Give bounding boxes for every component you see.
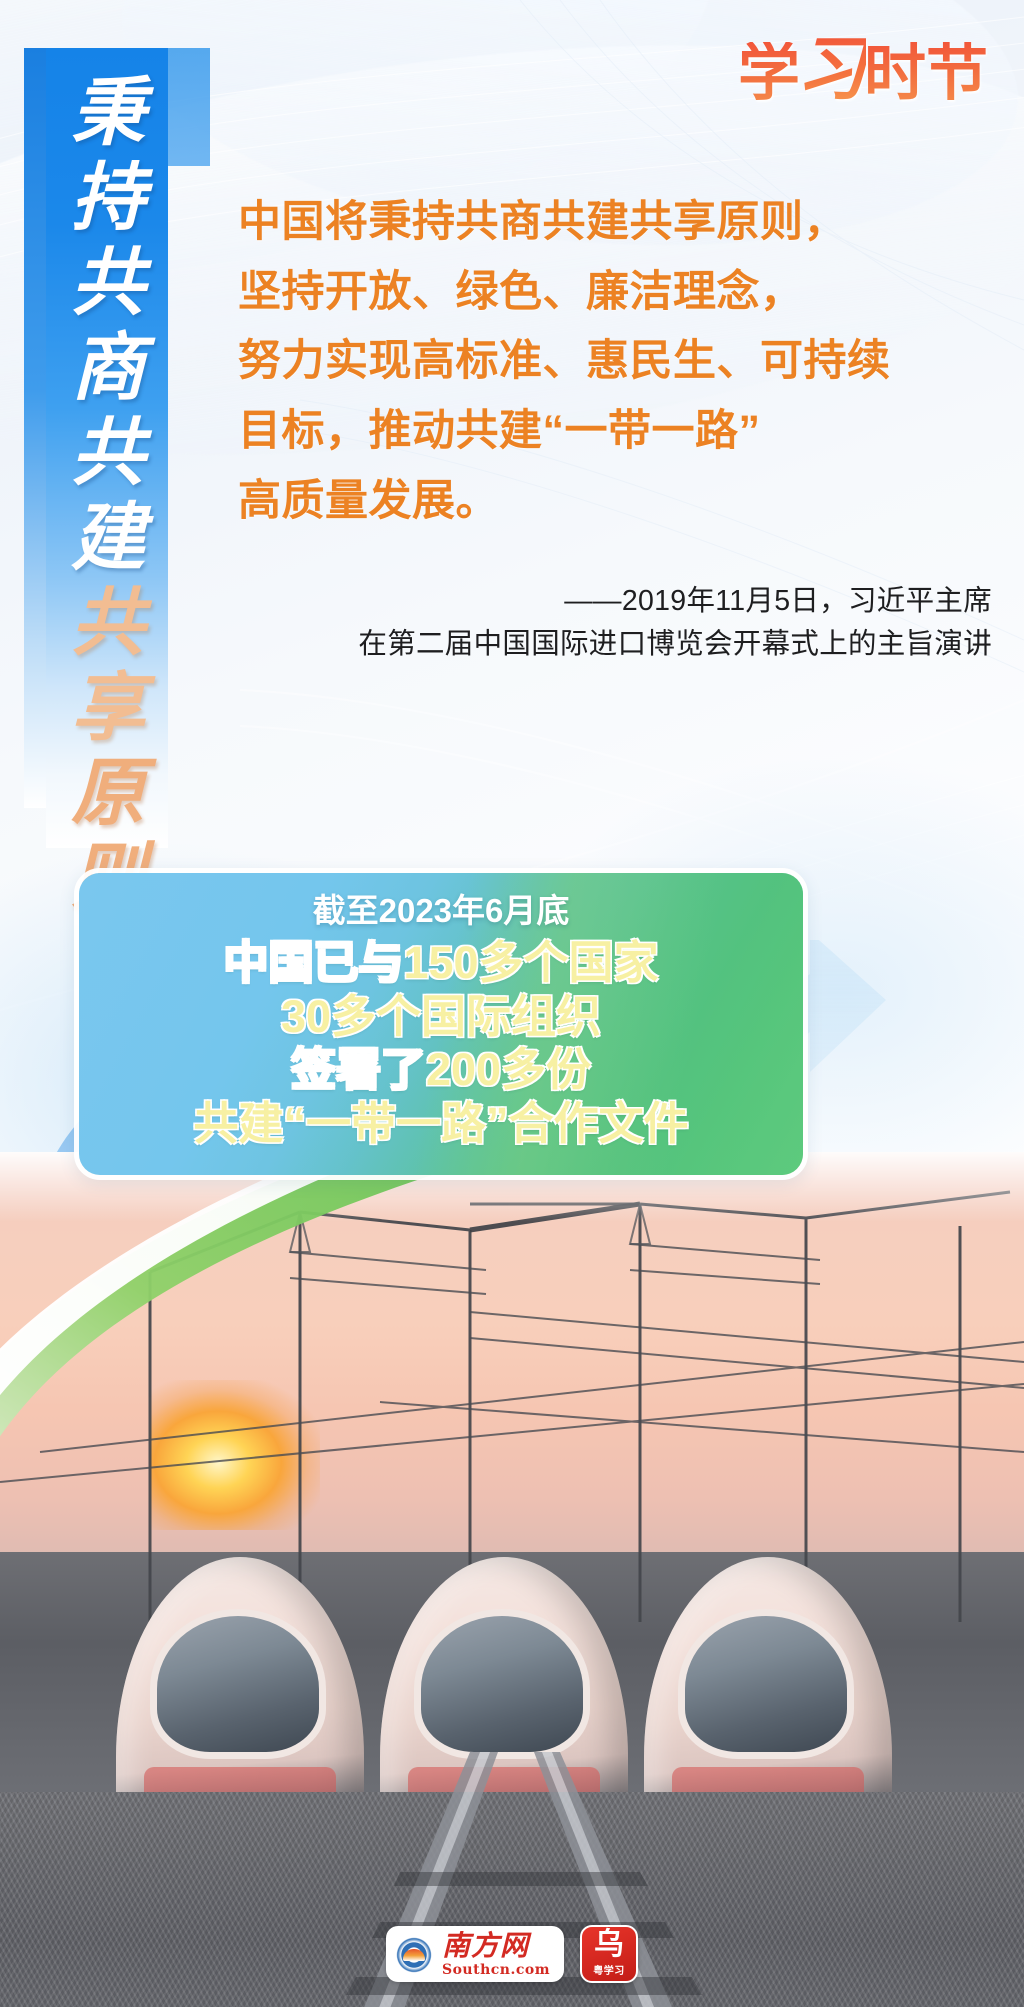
brand-char-3: 节 [926, 42, 988, 104]
brand-char-1: 习 [796, 34, 866, 104]
attribution-block: ——2019年11月5日，习近平主席 在第二届中国国际进口博览会开幕式上的主旨演… [180, 580, 992, 666]
quote-line-2: 努力实现高标准、惠民生、可持续 [238, 327, 998, 397]
train-windshield [678, 1609, 854, 1759]
quote-line-3: 目标，推动共建“一带一路” [238, 397, 998, 467]
banner-top-tab [168, 48, 210, 166]
stat-line-4-part-0: 共建“一带一路”合作文件 [193, 1098, 688, 1149]
train-photo [0, 1152, 1024, 2007]
stat-line-3: 签署了200多份 [79, 1043, 803, 1097]
stat-line-3-part-1: 200多份 [426, 1044, 591, 1095]
footer-logos: 南方网 Southcn.com 乌 粤学习 [0, 1925, 1024, 1983]
stat-line-1-part-1: 150多个国家 [403, 937, 658, 988]
quote-line-0: 中国将秉持共商共建共享原则， [238, 188, 998, 258]
stat-heading: 截至2023年6月底 [79, 891, 803, 930]
attribution-line-0: ——2019年11月5日，习近平主席 [180, 580, 992, 623]
stat-line-2: 30多个国际组织 [79, 990, 803, 1044]
brand-logo[interactable]: 学 习 时 节 [738, 34, 988, 104]
quote-line-1: 坚持开放、绿色、廉洁理念， [238, 258, 998, 328]
yuexuexi-glyph-icon: 乌 [594, 1930, 624, 1960]
brand-char-0: 学 [738, 42, 800, 104]
southcn-name-en: Southcn.com [442, 1963, 550, 1977]
yuexuexi-logo[interactable]: 乌 粤学习 [580, 1925, 638, 1983]
poster-root: 秉 持 共 商 共 建 共 享 原 则 学 习 时 节 中国将秉持共商共建共享原… [0, 0, 1024, 2007]
attribution-line-1: 在第二届中国国际进口博览会开幕式上的主旨演讲 [180, 623, 992, 666]
quote-block: 中国将秉持共商共建共享原则， 坚持开放、绿色、廉洁理念， 努力实现高标准、惠民生… [238, 188, 998, 536]
southcn-logo[interactable]: 南方网 Southcn.com [386, 1926, 564, 1982]
statistics-text: 截至2023年6月底 中国已与150多个国家 30多个国际组织 签署了200多份… [79, 873, 803, 1150]
train-windshield [150, 1609, 326, 1759]
stat-line-3-part-0: 签署了 [291, 1044, 426, 1095]
stat-line-2-part-0: 30多个国际组织 [281, 991, 601, 1042]
yuexuexi-label: 粤学习 [593, 1962, 625, 1977]
catenary-structure [0, 1152, 1024, 1622]
quote-line-4: 高质量发展。 [238, 467, 998, 537]
train-windshield [414, 1609, 590, 1759]
brand-char-2: 时 [864, 42, 926, 104]
stat-line-1-part-0: 中国已与 [223, 937, 403, 988]
southcn-name-cn: 南方网 [442, 1932, 550, 1960]
statistics-card: 截至2023年6月底 中国已与150多个国家 30多个国际组织 签署了200多份… [74, 868, 808, 1180]
vertical-banner [46, 48, 168, 848]
stat-line-1: 中国已与150多个国家 [79, 936, 803, 990]
southcn-text: 南方网 Southcn.com [442, 1932, 550, 1977]
banner-left-edge [24, 48, 46, 808]
southcn-mark-icon [394, 1935, 434, 1975]
stat-line-4: 共建“一带一路”合作文件 [79, 1097, 803, 1151]
